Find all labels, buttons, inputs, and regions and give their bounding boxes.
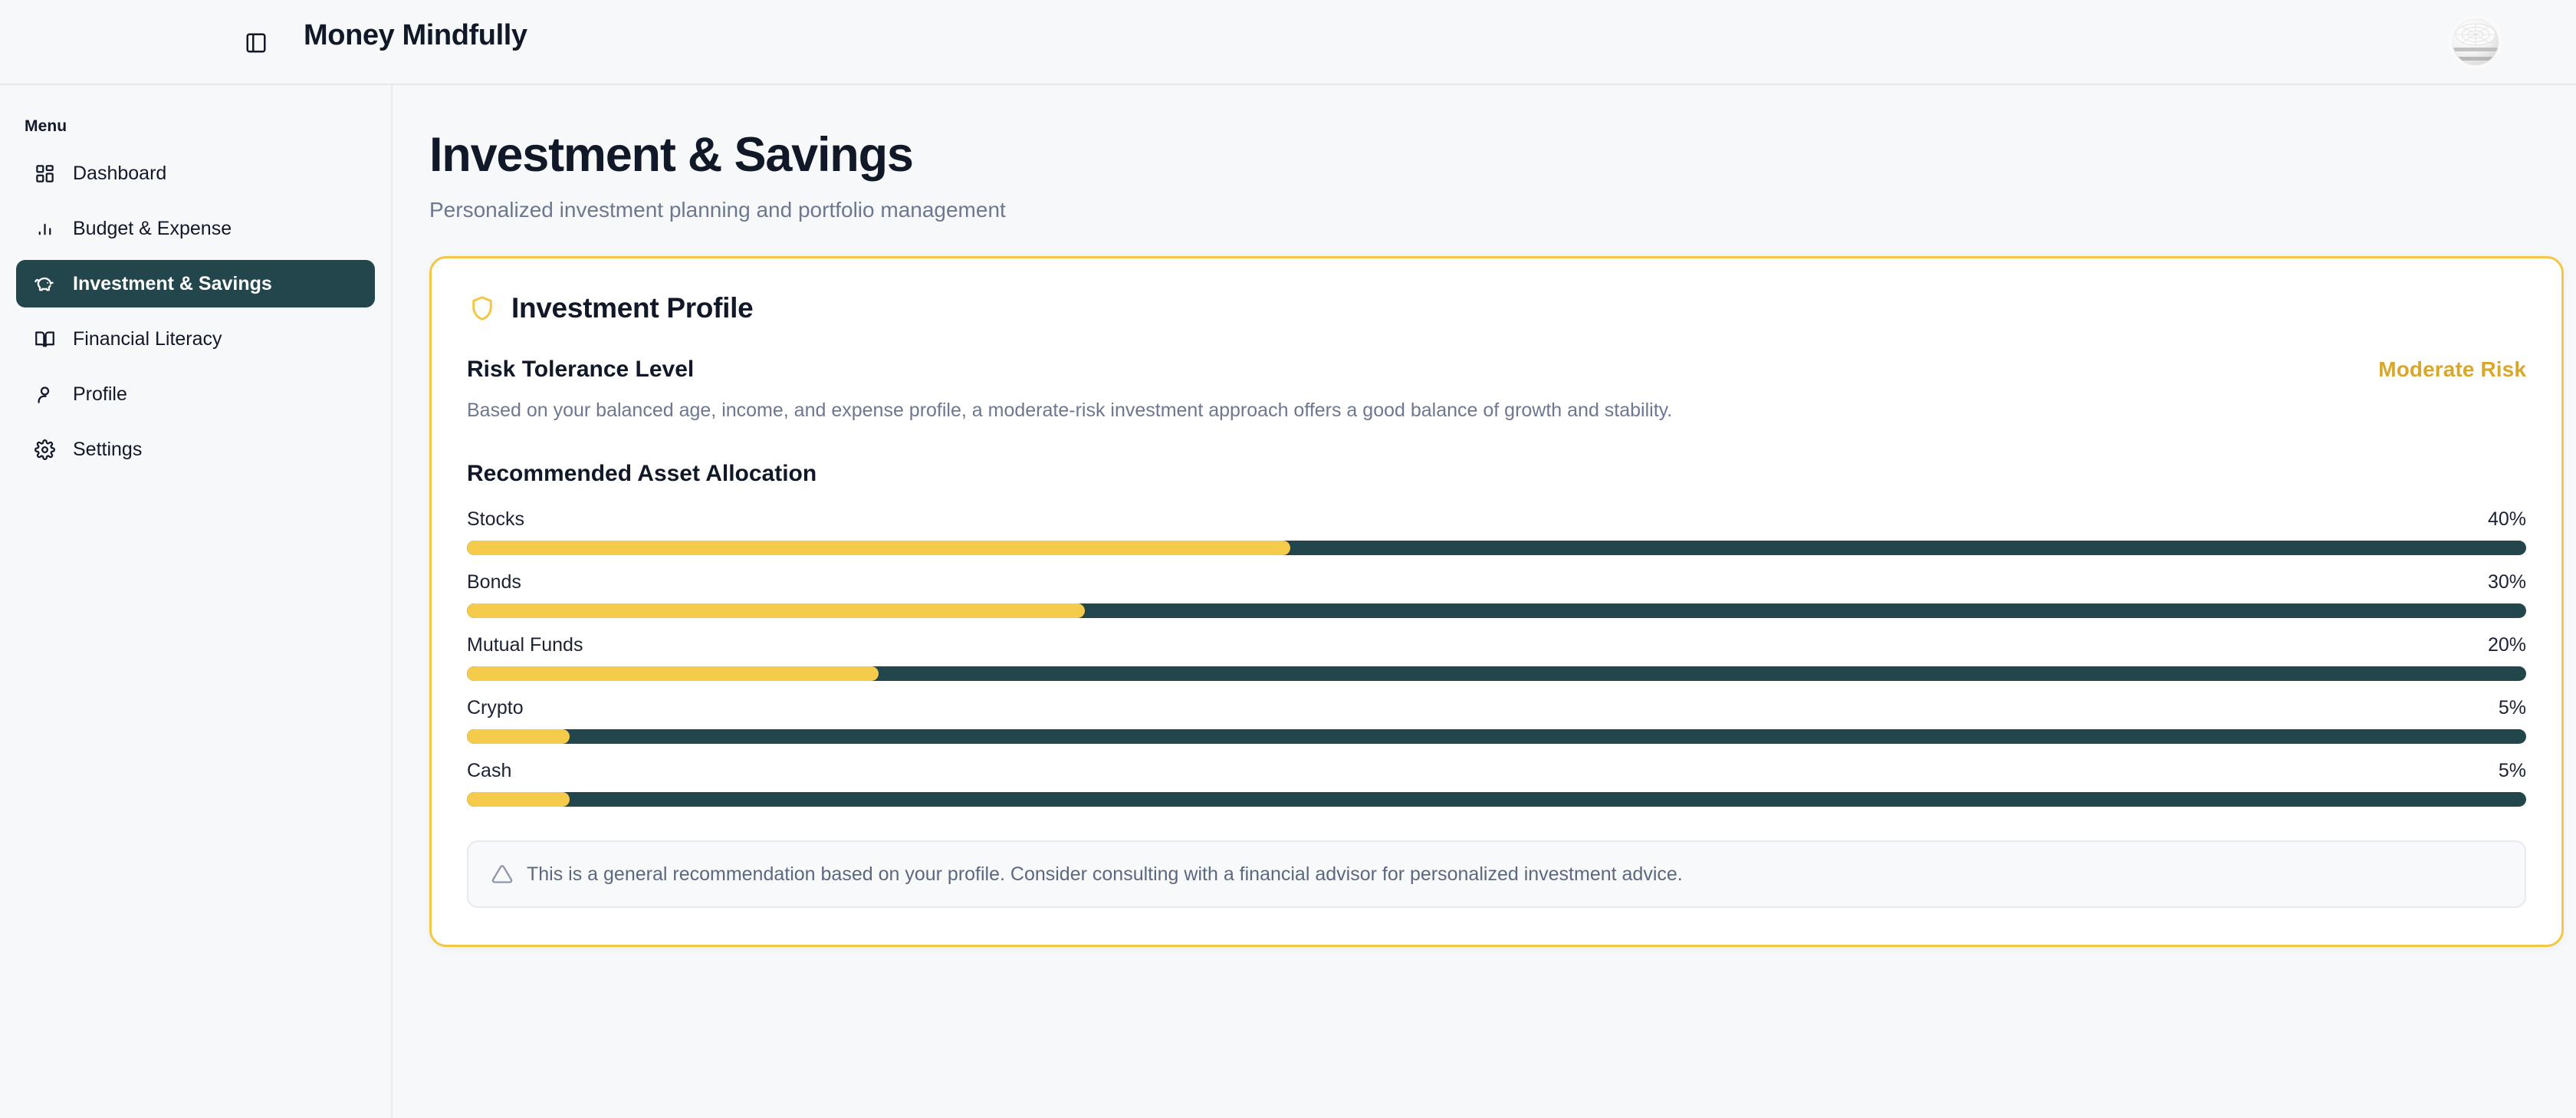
sidebar-item-label: Profile [73, 385, 127, 404]
sidebar-item-label: Investment & Savings [73, 275, 272, 294]
sidebar-toggle-button[interactable] [240, 27, 272, 59]
warning-triangle-icon [491, 863, 513, 885]
disclaimer-notice: This is a general recommendation based o… [467, 840, 2526, 909]
allocation-label: Mutual Funds [467, 634, 583, 656]
user-icon [33, 383, 56, 406]
bar-chart-icon [33, 217, 56, 240]
sidebar-item-label: Budget & Expense [73, 219, 232, 238]
allocation-label: Bonds [467, 571, 521, 594]
allocation-title: Recommended Asset Allocation [467, 461, 2526, 487]
allocation-bar-track [467, 541, 2526, 555]
top-bar: Money Mindfully [0, 0, 2576, 85]
page-subtitle: Personalized investment planning and por… [419, 196, 2525, 224]
investment-profile-card: Investment Profile Risk Tolerance Level … [429, 256, 2564, 947]
allocation-bar-track [467, 603, 2526, 618]
allocation-bar-fill [467, 792, 570, 807]
risk-tolerance-row: Risk Tolerance Level Moderate Risk [467, 357, 2526, 383]
allocation-bar-fill [467, 729, 570, 744]
layout-dashboard-icon [33, 162, 56, 185]
card-header: Investment Profile [467, 289, 2526, 324]
sidebar-item-financial-literacy[interactable]: Financial Literacy [16, 315, 375, 363]
disclaimer-text: This is a general recommendation based o… [527, 862, 1683, 887]
allocation-row: Cash 5% [467, 760, 2526, 807]
allocation-row: Bonds 30% [467, 571, 2526, 618]
allocation-bar-track [467, 792, 2526, 807]
card-title: Investment Profile [511, 292, 753, 324]
allocation-row: Crypto 5% [467, 697, 2526, 744]
risk-tolerance-title: Risk Tolerance Level [467, 357, 694, 383]
allocation-row: Stocks 40% [467, 508, 2526, 555]
sidebar-item-settings[interactable]: Settings [16, 426, 375, 473]
risk-description: Based on your balanced age, income, and … [467, 398, 2526, 424]
panel-left-icon [245, 31, 268, 54]
app-title: Money Mindfully [304, 17, 527, 54]
allocation-value: 40% [2488, 508, 2526, 531]
page-title: Investment & Savings [419, 128, 2525, 182]
sidebar-item-dashboard[interactable]: Dashboard [16, 150, 375, 197]
sidebar-nav: Dashboard Budget & Expense Investment & … [0, 150, 391, 473]
sidebar-item-label: Financial Literacy [73, 330, 222, 349]
allocation-bar-track [467, 729, 2526, 744]
allocation-label: Crypto [467, 697, 524, 719]
sidebar-item-budget-expense[interactable]: Budget & Expense [16, 205, 375, 252]
allocation-label: Cash [467, 760, 511, 782]
allocation-value: 20% [2488, 634, 2526, 656]
sidebar-menu-label: Menu [0, 107, 391, 150]
status-badge: Moderate Risk [2378, 357, 2526, 382]
user-avatar-image [2449, 15, 2502, 69]
piggy-bank-icon [33, 272, 56, 295]
allocation-bar-track [467, 666, 2526, 681]
allocation-bar-fill [467, 603, 1085, 618]
sidebar-item-profile[interactable]: Profile [16, 370, 375, 418]
main-content: Investment & Savings Personalized invest… [393, 85, 2576, 1118]
asset-allocation-chart: Stocks 40% Bonds 30% Mutual Funds [467, 508, 2526, 807]
sidebar-item-label: Dashboard [73, 164, 166, 183]
sidebar-item-label: Settings [73, 440, 142, 459]
allocation-row: Mutual Funds 20% [467, 634, 2526, 681]
sidebar-item-investment-savings[interactable]: Investment & Savings [16, 260, 375, 307]
book-open-icon [33, 327, 56, 350]
gear-icon [33, 438, 56, 461]
allocation-value: 5% [2499, 760, 2526, 782]
sidebar: Menu Dashboard Budget & Expense [0, 85, 393, 1118]
allocation-bar-fill [467, 666, 879, 681]
shield-icon [468, 293, 496, 324]
allocation-label: Stocks [467, 508, 524, 531]
allocation-value: 30% [2488, 571, 2526, 594]
allocation-value: 5% [2499, 697, 2526, 719]
avatar[interactable] [2449, 15, 2502, 69]
allocation-bar-fill [467, 541, 1290, 555]
